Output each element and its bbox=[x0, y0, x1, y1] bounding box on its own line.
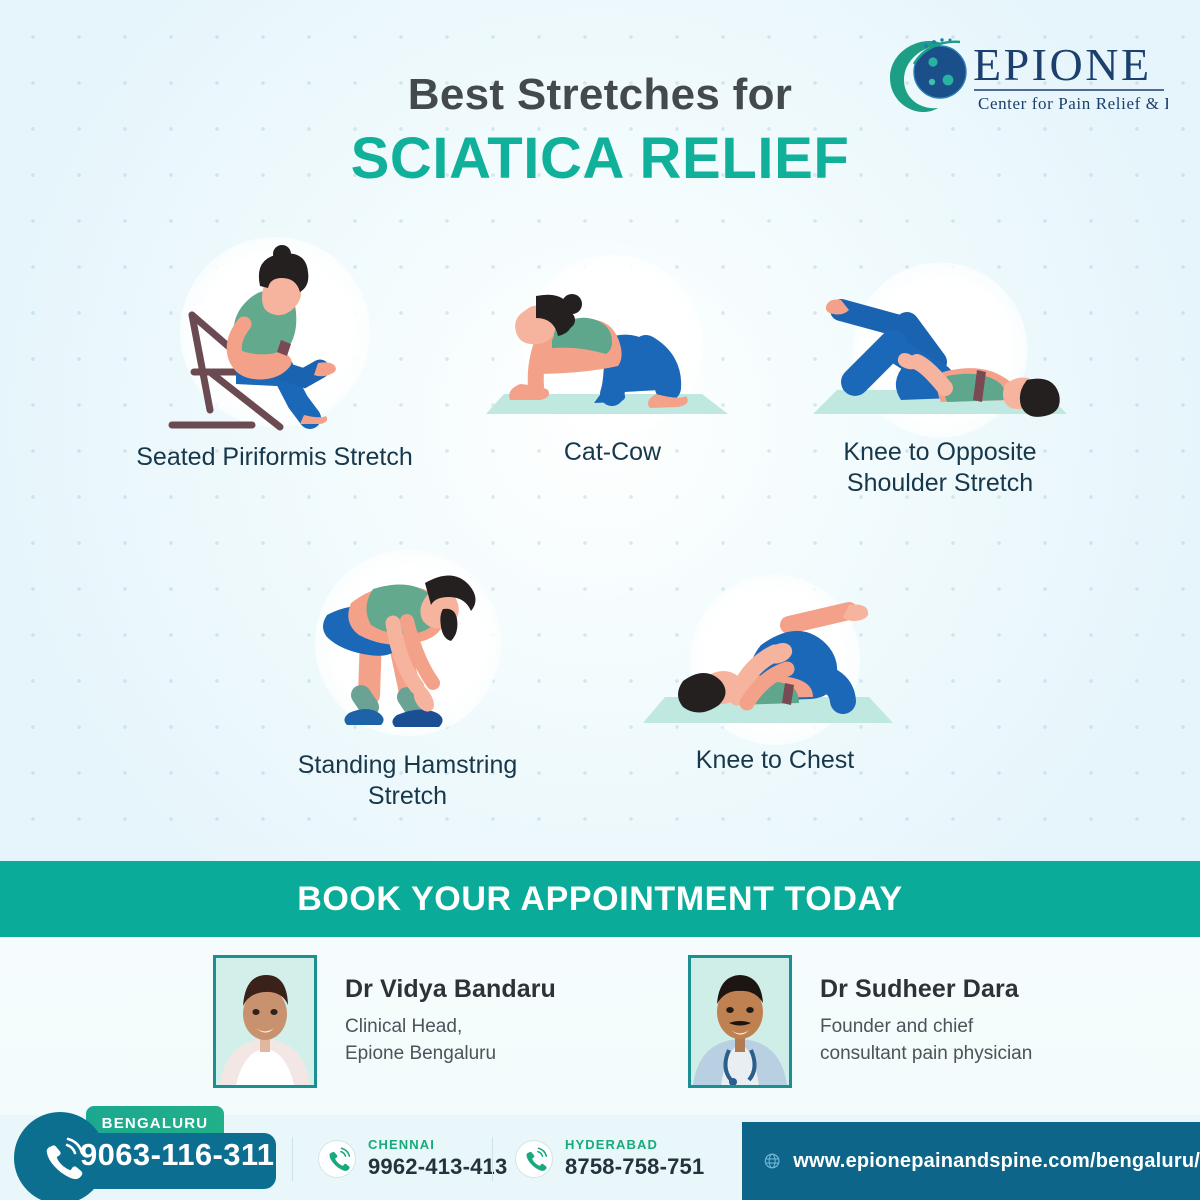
doctor-card-dr-vidya-bandaru: Dr Vidya Bandaru Clinical Head, Epione B… bbox=[213, 955, 556, 1088]
hyderabad-phone-number: 8758-758-751 bbox=[565, 1154, 704, 1180]
hyderabad-contact-text: HYDERABAD 8758-758-751 bbox=[565, 1137, 704, 1180]
exercise-illustration-standing-hamstring-stretch bbox=[265, 545, 550, 740]
doctors-section: Dr Vidya Bandaru Clinical Head, Epione B… bbox=[0, 937, 1200, 1115]
doctor-meta: Dr Vidya Bandaru Clinical Head, Epione B… bbox=[345, 975, 556, 1068]
doctor-role: Clinical Head, Epione Bengaluru bbox=[345, 1014, 556, 1068]
exercise-card-knee-to-chest: Knee to Chest bbox=[635, 585, 915, 776]
doctor-name: Dr Vidya Bandaru bbox=[345, 975, 556, 1004]
bengaluru-phone-number: 9063-116-311 bbox=[80, 1137, 280, 1173]
doctor-role-line-1: Founder and chief bbox=[820, 1014, 1032, 1041]
infographic-poster: EPIONE Center for Pain Relief & Beyond B… bbox=[0, 0, 1200, 1200]
doctor-role-line-2: consultant pain physician bbox=[820, 1041, 1032, 1068]
exercise-card-seated-piriformis-stretch: Seated Piriformis Stretch bbox=[132, 232, 417, 473]
exercise-label: Seated Piriformis Stretch bbox=[132, 442, 417, 473]
title-line-2: SCIATICA RELIEF bbox=[0, 126, 1200, 193]
exercise-illustration-seated-piriformis-stretch bbox=[132, 232, 417, 432]
doctor-role-line-1: Clinical Head, bbox=[345, 1014, 556, 1041]
website-url-text: www.epionepainandspine.com/bengaluru/ bbox=[793, 1150, 1200, 1173]
doctor-role: Founder and chief consultant pain physic… bbox=[820, 1014, 1032, 1068]
appointment-banner[interactable]: BOOK YOUR APPOINTMENT TODAY bbox=[0, 861, 1200, 937]
doctor-meta: Dr Sudheer Dara Founder and chief consul… bbox=[820, 975, 1032, 1068]
doctor-name: Dr Sudheer Dara bbox=[820, 975, 1032, 1004]
bengaluru-city-label: BENGALURU bbox=[102, 1115, 209, 1132]
phone-ringing-icon bbox=[318, 1140, 356, 1178]
footer-divider bbox=[292, 1137, 293, 1181]
hyderabad-city-label: HYDERABAD bbox=[565, 1137, 704, 1152]
portrait-dr-sudheer-dara bbox=[691, 958, 789, 1085]
exercise-illustration-cat-cow bbox=[470, 262, 755, 427]
chennai-contact-text: CHENNAI 9962-413-413 bbox=[368, 1137, 507, 1180]
exercise-illustration-knee-to-chest bbox=[635, 585, 915, 735]
footer-contact-chennai[interactable]: CHENNAI 9962-413-413 bbox=[318, 1137, 507, 1180]
appointment-banner-text: BOOK YOUR APPOINTMENT TODAY bbox=[297, 880, 903, 919]
title-line-1: Best Stretches for bbox=[0, 72, 1200, 118]
globe-icon bbox=[764, 1149, 780, 1173]
footer-primary-contact-bengaluru[interactable]: BENGALURU 9063-116-311 bbox=[14, 1097, 276, 1193]
chennai-phone-number: 9962-413-413 bbox=[368, 1154, 507, 1180]
exercise-illustration-knee-to-opposite-shoulder-stretch bbox=[795, 272, 1085, 427]
page-title: Best Stretches for SCIATICA RELIEF bbox=[0, 72, 1200, 193]
avatar bbox=[688, 955, 792, 1088]
portrait-dr-vidya-bandaru bbox=[216, 958, 314, 1085]
poster-header: EPIONE Center for Pain Relief & Beyond B… bbox=[0, 0, 1200, 230]
exercise-card-knee-to-opposite-shoulder-stretch: Knee to Opposite Shoulder Stretch bbox=[795, 272, 1085, 498]
phone-ringing-icon bbox=[515, 1140, 553, 1178]
exercise-label: Cat-Cow bbox=[470, 437, 755, 468]
exercise-card-standing-hamstring-stretch: Standing Hamstring Stretch bbox=[265, 545, 550, 811]
footer-website-link[interactable]: www.epionepainandspine.com/bengaluru/ bbox=[742, 1122, 1200, 1200]
footer-contact-hyderabad[interactable]: HYDERABAD 8758-758-751 bbox=[515, 1137, 704, 1180]
avatar bbox=[213, 955, 317, 1088]
exercise-label: Knee to Opposite Shoulder Stretch bbox=[795, 437, 1085, 498]
exercise-card-cat-cow: Cat-Cow bbox=[470, 262, 755, 468]
doctor-role-line-2: Epione Bengaluru bbox=[345, 1041, 556, 1068]
chennai-city-label: CHENNAI bbox=[368, 1137, 507, 1152]
doctor-card-dr-sudheer-dara: Dr Sudheer Dara Founder and chief consul… bbox=[688, 955, 1032, 1088]
footer-divider bbox=[492, 1137, 493, 1181]
exercise-label: Standing Hamstring Stretch bbox=[265, 750, 550, 811]
exercise-label: Knee to Chest bbox=[635, 745, 915, 776]
